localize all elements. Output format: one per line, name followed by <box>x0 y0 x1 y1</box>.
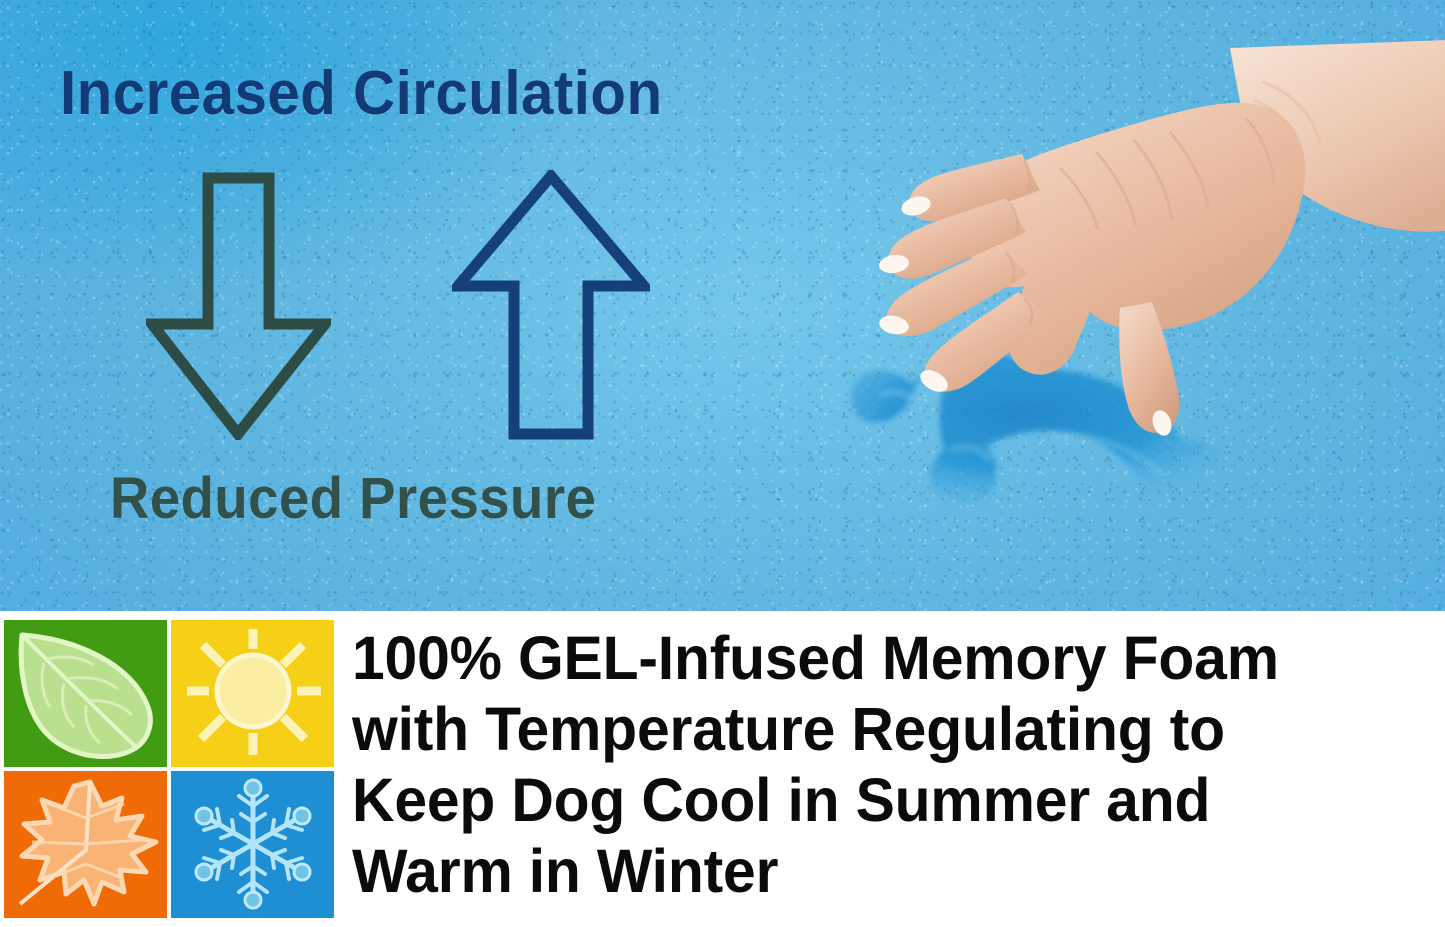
increased-circulation-label: Increased Circulation <box>60 58 663 129</box>
feature-headline: 100% GEL-Infused Memory Foam with Temper… <box>352 623 1443 907</box>
down-arrow-icon <box>146 172 331 440</box>
sun-icon <box>173 621 333 766</box>
foam-photo-panel: Increased Circulation Reduced Pressure <box>0 0 1445 611</box>
snowflake-icon <box>173 772 333 917</box>
season-tile-autumn <box>4 771 167 918</box>
product-feature-poster: Increased Circulation Reduced Pressure <box>0 0 1445 927</box>
headline-line-1: 100% GEL-Infused Memory Foam <box>352 623 1405 694</box>
maple-leaf-icon <box>6 772 166 917</box>
headline-line-3: Keep Dog Cool in Summer and <box>352 765 1405 836</box>
season-tile-winter <box>171 771 334 918</box>
feature-band: 100% GEL-Infused Memory Foam with Temper… <box>0 611 1445 927</box>
headline-line-4: Warm in Winter <box>352 836 1405 907</box>
leaf-icon <box>6 621 166 766</box>
up-arrow-icon <box>452 170 650 442</box>
reduced-pressure-label: Reduced Pressure <box>110 465 596 532</box>
season-tile-spring <box>4 620 167 767</box>
hand-pressing-foam <box>810 40 1445 460</box>
season-tile-summer <box>171 620 334 767</box>
headline-line-2: with Temperature Regulating to <box>352 694 1405 765</box>
season-icon-grid <box>4 620 334 920</box>
